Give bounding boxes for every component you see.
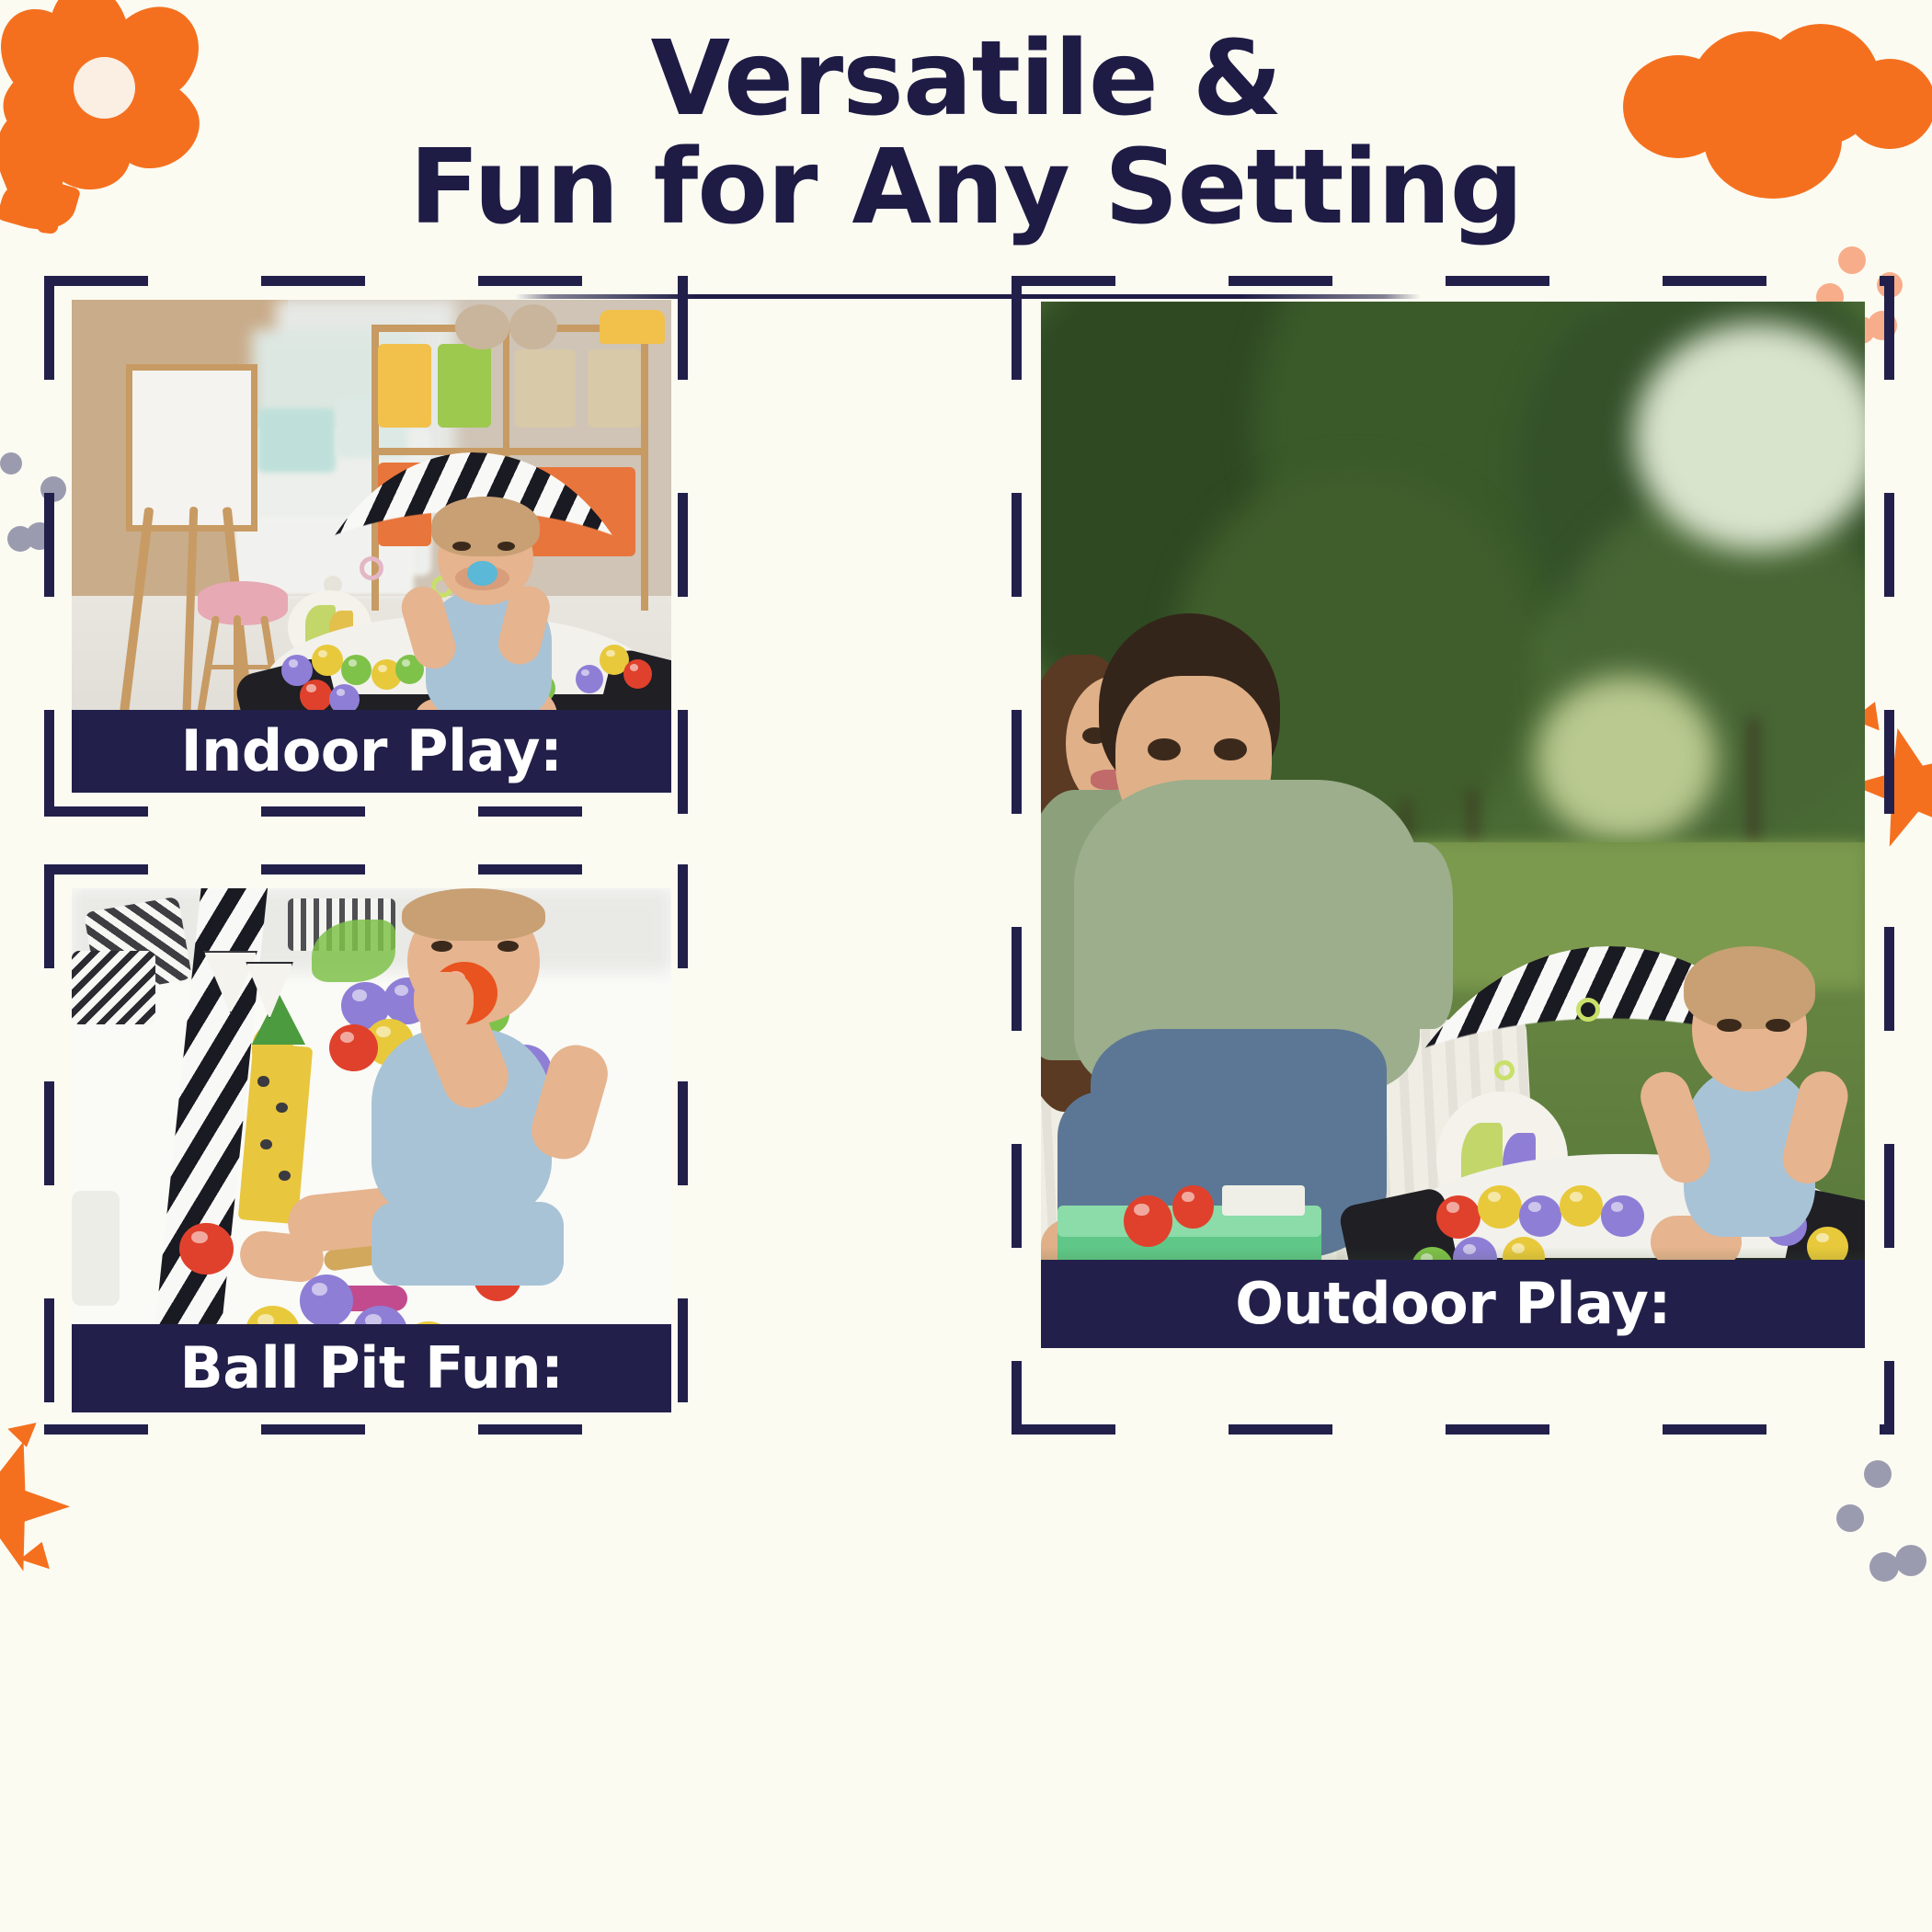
photo-outdoor-play xyxy=(1041,302,1865,1341)
card-indoor: UTTA Indoor Play: xyxy=(44,276,688,817)
banner-outdoor: Outdoor Play: xyxy=(1041,1260,1865,1348)
infographic-page: Versatile & Fun for Any Setting xyxy=(0,0,1932,1932)
card-label-outdoor: Outdoor Play: xyxy=(1235,1275,1671,1332)
card-outdoor: Outdoor Play: xyxy=(1012,276,1894,1435)
star-decoration-left xyxy=(0,1416,63,1600)
banner-ballpit: Ball Pit Fun: xyxy=(72,1324,671,1412)
gray-dots-cluster-right xyxy=(1825,1460,1926,1598)
card-label-indoor: Indoor Play: xyxy=(181,723,563,780)
page-header: Versatile & Fun for Any Setting xyxy=(0,26,1932,242)
banner-indoor: Indoor Play: xyxy=(72,710,671,793)
page-title: Versatile & Fun for Any Setting xyxy=(0,26,1932,242)
card-ballpit: Ball Pit Fun: xyxy=(44,864,688,1435)
card-label-ballpit: Ball Pit Fun: xyxy=(180,1340,564,1397)
